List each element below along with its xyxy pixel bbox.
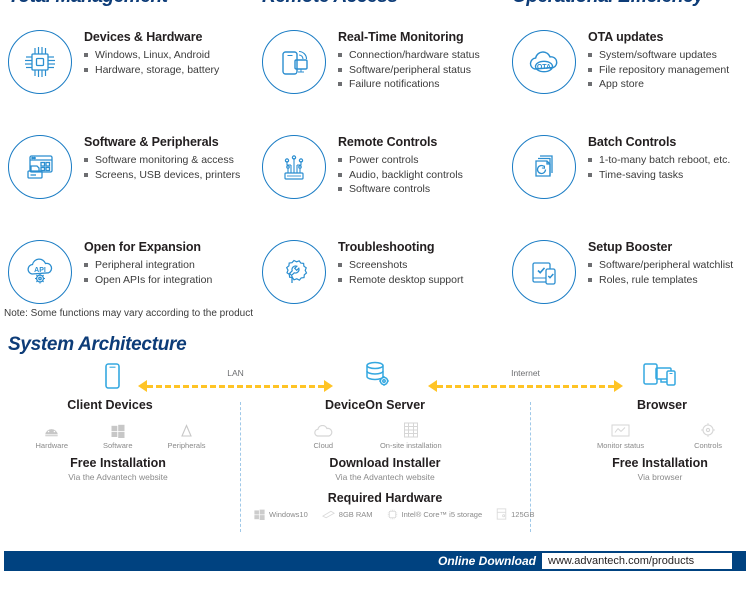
block-subtitle: Via the Advantech website xyxy=(0,472,238,482)
feature-card-batch-controls: Batch Controls 1-to-many batch reboot, e… xyxy=(500,131,750,236)
gear-wrench-icon xyxy=(262,240,326,304)
cloud-icon xyxy=(313,420,333,438)
feature-title: Open for Expansion xyxy=(84,240,212,254)
sub-item-label: Peripherals xyxy=(168,441,206,450)
feature-text: Devices & Hardware Windows, Linux, Andro… xyxy=(84,26,219,77)
feature-bullet: Screenshots xyxy=(338,258,463,273)
feature-row: Devices & Hardware Windows, Linux, Andro… xyxy=(0,26,750,131)
sub-items-browser: Monitor status Controls xyxy=(572,420,747,450)
onsite-server-icon xyxy=(380,420,442,438)
sub-item-peripherals: Peripherals xyxy=(168,420,206,450)
feature-card-devices-hardware: Devices & Hardware Windows, Linux, Andro… xyxy=(0,26,250,131)
feature-bullets: Power controls Audio, backlight controls… xyxy=(338,153,463,197)
remote-controls-circuit-icon xyxy=(262,135,326,199)
feature-bullet: Software monitoring & access xyxy=(84,153,240,168)
sub-item-label: Software xyxy=(103,441,133,450)
column-heading-operational-efficiency: Operational Efficiency xyxy=(500,0,750,10)
feature-bullet: Roles, rule templates xyxy=(588,273,733,288)
ota-cloud-icon: OTA xyxy=(512,30,576,94)
realtime-monitor-icon xyxy=(262,30,326,94)
product-variation-note: Note: Some functions may vary according … xyxy=(4,308,253,319)
feature-bullets: Software monitoring & access Screens, US… xyxy=(84,153,240,182)
sub-items-deviceon-server: Cloud On-site installation xyxy=(290,420,465,450)
feature-bullet: Software controls xyxy=(338,182,463,197)
feature-text: Batch Controls 1-to-many batch reboot, e… xyxy=(588,131,730,182)
cpu-icon xyxy=(387,509,398,520)
windows-icon xyxy=(103,420,133,438)
connector-label-internet: Internet xyxy=(478,368,573,378)
footer-bar: Online Download www.advantech.com/produc… xyxy=(4,551,746,571)
column-heading-remote-access: Remote Access xyxy=(250,0,500,10)
sub-item-onsite-installation: On-site installation xyxy=(380,420,442,450)
software-peripherals-icon xyxy=(8,135,72,199)
feature-row: API Open for Expansion Per xyxy=(0,236,750,341)
ram-icon xyxy=(322,510,335,519)
feature-text: OTA updates System/software updates File… xyxy=(588,26,729,92)
feature-bullet: System/software updates xyxy=(588,48,729,63)
cpu-chip-icon xyxy=(8,30,72,94)
peripherals-icon xyxy=(168,420,206,438)
hardware-item-windows10: Windows10 xyxy=(254,509,308,520)
svg-text:OTA: OTA xyxy=(537,64,551,71)
block-title: Required Hardware xyxy=(265,491,505,505)
feature-bullet: Software/peripheral watchlist xyxy=(588,258,733,273)
android-icon xyxy=(35,420,68,438)
sub-item-monitor-status: Monitor status xyxy=(597,420,644,450)
feature-row: Software & Peripherals Software monitori… xyxy=(0,131,750,236)
feature-title: Devices & Hardware xyxy=(84,30,219,44)
feature-bullet: Time-saving tasks xyxy=(588,168,730,183)
svg-text:API: API xyxy=(34,267,46,274)
block-required-hardware-title: Required Hardware xyxy=(265,491,505,505)
feature-text: Open for Expansion Peripheral integratio… xyxy=(84,236,212,287)
connector-label-lan: LAN xyxy=(188,368,283,378)
sub-item-controls: Controls xyxy=(694,420,722,450)
feature-bullet: Peripheral integration xyxy=(84,258,212,273)
online-download-label: Online Download xyxy=(438,554,536,568)
storage-icon xyxy=(496,508,507,520)
hardware-label: Windows10 xyxy=(269,510,308,519)
feature-bullets: Screenshots Remote desktop support xyxy=(338,258,463,287)
block-title: Free Installation xyxy=(540,456,750,470)
sub-items-client-devices: Hardware Software Peripherals xyxy=(18,420,223,450)
windows-icon xyxy=(254,509,265,520)
feature-title: Remote Controls xyxy=(338,135,463,149)
sub-item-software: Software xyxy=(103,420,133,450)
feature-title: Setup Booster xyxy=(588,240,733,254)
feature-text: Real-Time Monitoring Connection/hardware… xyxy=(338,26,480,92)
arrow-left-icon xyxy=(428,380,437,392)
feature-card-open-for-expansion: API Open for Expansion Per xyxy=(0,236,250,341)
feature-bullet: Power controls xyxy=(338,153,463,168)
hardware-label: 8GB RAM xyxy=(339,510,373,519)
section-title-system-architecture: System Architecture xyxy=(8,334,186,356)
feature-bullets: Connection/hardware status Software/peri… xyxy=(338,48,480,92)
feature-bullets: Software/peripheral watchlist Roles, rul… xyxy=(588,258,733,287)
feature-bullet: Screens, USB devices, printers xyxy=(84,168,240,183)
hardware-label: Intel® Core™ i5 storage xyxy=(402,510,483,519)
feature-bullets: Windows, Linux, Android Hardware, storag… xyxy=(84,48,219,77)
feature-bullets: System/software updates File repository … xyxy=(588,48,729,92)
browser-devices-icon xyxy=(641,361,681,391)
dashed-line xyxy=(147,385,324,388)
block-title: Download Installer xyxy=(265,456,505,470)
feature-bullets: Peripheral integration Open APIs for int… xyxy=(84,258,212,287)
hardware-item-ram: 8GB RAM xyxy=(322,510,373,519)
feature-bullet: File repository management xyxy=(588,63,729,78)
sub-item-label: Hardware xyxy=(35,441,68,450)
required-hardware-list: Windows10 8GB RAM xyxy=(254,508,534,520)
feature-text: Troubleshooting Screenshots Remote deskt… xyxy=(338,236,463,287)
hardware-label: 125GB xyxy=(511,510,534,519)
infographic-page: Total Management Remote Access Operation… xyxy=(0,0,750,591)
column-heading-total-management: Total Management xyxy=(0,0,250,10)
feature-bullet: Open APIs for integration xyxy=(84,273,212,288)
sub-item-label: On-site installation xyxy=(380,441,442,450)
hardware-item-cpu: Intel® Core™ i5 storage xyxy=(387,509,483,520)
server-database-gear-icon xyxy=(361,359,393,391)
node-title-browser: Browser xyxy=(552,398,750,412)
feature-bullet: Audio, backlight controls xyxy=(338,168,463,183)
feature-card-software-peripherals: Software & Peripherals Software monitori… xyxy=(0,131,250,236)
feature-bullet: Hardware, storage, battery xyxy=(84,63,219,78)
hardware-item-storage: 125GB xyxy=(496,508,534,520)
feature-title: Troubleshooting xyxy=(338,240,463,254)
feature-grid: Devices & Hardware Windows, Linux, Andro… xyxy=(0,26,750,341)
sub-item-label: Cloud xyxy=(313,441,333,450)
online-download-url[interactable]: www.advantech.com/products xyxy=(542,553,732,569)
batch-documents-icon xyxy=(512,135,576,199)
sub-item-hardware: Hardware xyxy=(35,420,68,450)
sub-item-label: Monitor status xyxy=(597,441,644,450)
smartphone-icon xyxy=(98,362,126,392)
sub-item-label: Controls xyxy=(694,441,722,450)
block-server-download-installer: Download Installer Via the Advantech web… xyxy=(265,456,505,482)
checklist-devices-icon xyxy=(512,240,576,304)
divider-left xyxy=(240,402,241,532)
feature-bullet: App store xyxy=(588,77,729,92)
feature-card-remote-controls: Remote Controls Power controls Audio, ba… xyxy=(250,131,500,236)
feature-card-troubleshooting: Troubleshooting Screenshots Remote deskt… xyxy=(250,236,500,341)
feature-title: Real-Time Monitoring xyxy=(338,30,480,44)
feature-bullets: 1-to-many batch reboot, etc. Time-saving… xyxy=(588,153,730,182)
feature-title: OTA updates xyxy=(588,30,729,44)
block-subtitle: Via the Advantech website xyxy=(265,472,505,482)
feature-text: Setup Booster Software/peripheral watchl… xyxy=(588,236,733,287)
connector-lan xyxy=(138,380,333,392)
feature-bullet: Connection/hardware status xyxy=(338,48,480,63)
arrow-right-icon xyxy=(324,380,333,392)
arrow-right-icon xyxy=(614,380,623,392)
block-title: Free Installation xyxy=(0,456,238,470)
dashed-line xyxy=(437,385,614,388)
api-cloud-gear-icon: API xyxy=(8,240,72,304)
connector-internet xyxy=(428,380,623,392)
node-title-client-devices: Client Devices xyxy=(0,398,220,412)
sub-item-cloud: Cloud xyxy=(313,420,333,450)
feature-card-setup-booster: Setup Booster Software/peripheral watchl… xyxy=(500,236,750,341)
feature-card-ota-updates: OTA OTA updates System/software updates … xyxy=(500,26,750,131)
block-client-free-installation: Free Installation Via the Advantech webs… xyxy=(0,456,238,482)
node-title-deviceon-server: DeviceOn Server xyxy=(265,398,485,412)
feature-bullet: Software/peripheral status xyxy=(338,63,480,78)
block-subtitle: Via browser xyxy=(540,472,750,482)
arrow-left-icon xyxy=(138,380,147,392)
feature-title: Software & Peripherals xyxy=(84,135,240,149)
feature-bullet: Failure notifications xyxy=(338,77,480,92)
feature-bullet: 1-to-many batch reboot, etc. xyxy=(588,153,730,168)
column-headings: Total Management Remote Access Operation… xyxy=(0,0,750,10)
feature-text: Software & Peripherals Software monitori… xyxy=(84,131,240,182)
feature-text: Remote Controls Power controls Audio, ba… xyxy=(338,131,463,197)
feature-bullet: Remote desktop support xyxy=(338,273,463,288)
feature-title: Batch Controls xyxy=(588,135,730,149)
feature-bullet: Windows, Linux, Android xyxy=(84,48,219,63)
feature-card-real-time-monitoring: Real-Time Monitoring Connection/hardware… xyxy=(250,26,500,131)
block-browser-free-installation: Free Installation Via browser xyxy=(540,456,750,482)
system-architecture-diagram: Client Devices LAN DeviceOn Server xyxy=(0,358,750,538)
monitor-status-icon xyxy=(597,420,644,438)
controls-gear-icon xyxy=(694,420,722,438)
